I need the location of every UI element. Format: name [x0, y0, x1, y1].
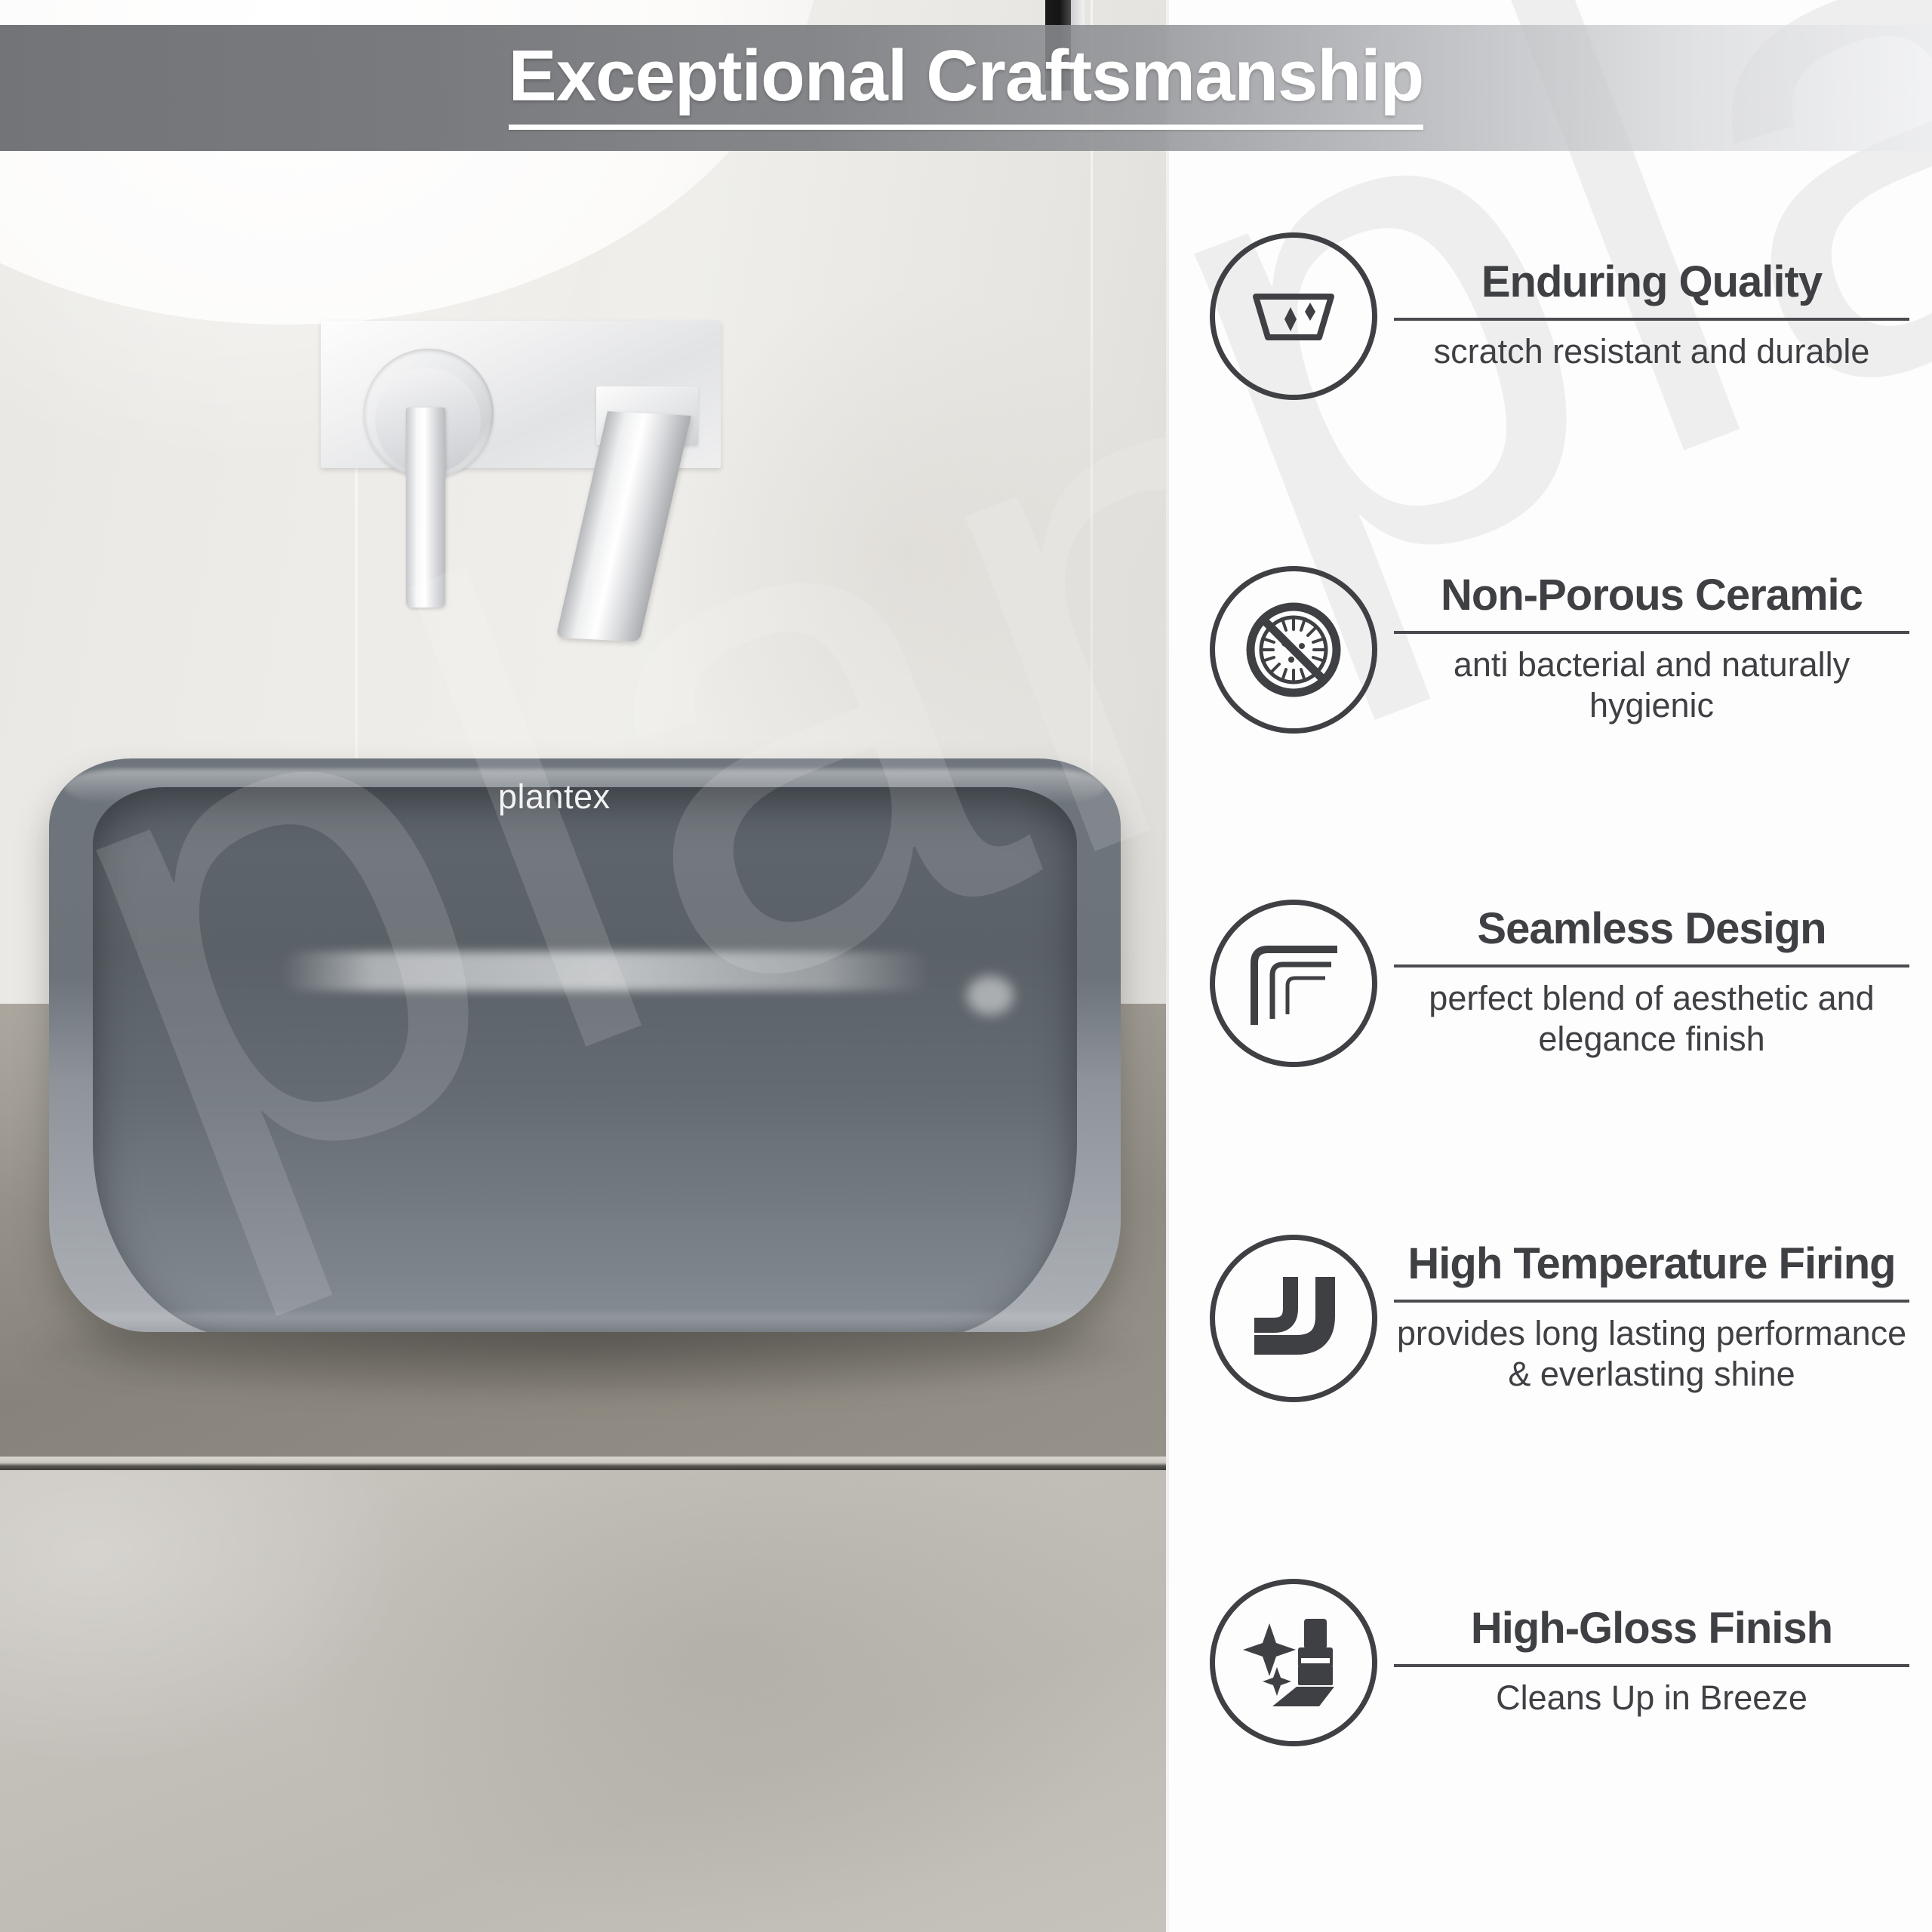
feature-title: Enduring Quality — [1394, 260, 1909, 306]
feature-description: provides long lasting performance & ever… — [1394, 1313, 1909, 1396]
header-banner: Exceptional Craftsmanship — [0, 25, 1932, 151]
basin-gloss-reflection — [281, 952, 931, 991]
feature-item-high-temperature-firing: High Temperature Firing provides long la… — [1166, 1235, 1932, 1402]
feature-text-block: Non-Porous Ceramic anti bacterial and na… — [1394, 573, 1909, 728]
feature-description: anti bacterial and naturally hygienic — [1394, 645, 1909, 728]
feature-item-enduring-quality: Enduring Quality scratch resistant and d… — [1166, 232, 1932, 400]
feature-title: High-Gloss Finish — [1394, 1606, 1909, 1652]
basin-front-edge — [49, 1313, 1121, 1332]
icon-wrapper — [1210, 566, 1377, 734]
icon-wrapper — [1210, 1235, 1377, 1402]
title-underline — [509, 125, 1424, 130]
brand-logo-on-basin: plantex — [498, 777, 611, 817]
feature-rule — [1394, 964, 1909, 968]
feature-rule — [1394, 318, 1909, 321]
feature-item-high-gloss-finish: High-Gloss Finish Cleans Up in Breeze — [1166, 1579, 1932, 1746]
ceramic-basin — [49, 758, 1121, 1332]
feature-title: Seamless Design — [1394, 906, 1909, 952]
rounded-corner-lines-icon — [1242, 936, 1345, 1031]
curved-firing-icon — [1241, 1269, 1346, 1367]
page-title: Exceptional Craftsmanship — [509, 40, 1424, 112]
countertop-front-edge — [0, 1457, 1166, 1470]
feature-item-seamless-design: Seamless Design perfect blend of aesthet… — [1166, 900, 1932, 1067]
feature-title: High Temperature Firing — [1394, 1241, 1909, 1287]
basin-gloss-spot — [967, 976, 1014, 1015]
product-photo-panel: plantex plantex — [0, 0, 1166, 1932]
feature-description: perfect blend of aesthetic and elegance … — [1394, 978, 1909, 1061]
feature-text-block: Seamless Design perfect blend of aesthet… — [1394, 906, 1909, 1061]
feature-text-block: Enduring Quality scratch resistant and d… — [1394, 260, 1909, 373]
feature-rule — [1394, 1664, 1909, 1667]
sparkle-brush-icon — [1238, 1611, 1349, 1714]
feature-title: Non-Porous Ceramic — [1394, 573, 1909, 619]
header-banner-inner: Exceptional Craftsmanship — [509, 40, 1424, 136]
feature-list-panel: plantex Enduring Quality scratch resista… — [1166, 0, 1932, 1932]
feature-text-block: High Temperature Firing provides long la… — [1394, 1241, 1909, 1396]
icon-wrapper — [1210, 1579, 1377, 1746]
faucet-lever-handle — [406, 408, 445, 608]
icon-wrapper — [1210, 232, 1377, 400]
no-bacteria-icon — [1240, 596, 1347, 703]
icon-wrapper — [1210, 900, 1377, 1067]
vanity-cabinet-front — [0, 1470, 1166, 1932]
feature-item-non-porous-ceramic: Non-Porous Ceramic anti bacterial and na… — [1166, 566, 1932, 734]
feature-description: scratch resistant and durable — [1394, 331, 1909, 373]
feature-rule — [1394, 631, 1909, 634]
feature-description: Cleans Up in Breeze — [1394, 1678, 1909, 1719]
feature-text-block: High-Gloss Finish Cleans Up in Breeze — [1394, 1606, 1909, 1719]
basin-bowl-interior — [93, 787, 1077, 1332]
basin-quality-icon — [1244, 277, 1343, 355]
cabinet-sheen — [0, 1470, 1166, 1932]
feature-rule — [1394, 1300, 1909, 1303]
product-feature-graphic: plantex plantex plantex Enduring Quality… — [0, 0, 1932, 1932]
